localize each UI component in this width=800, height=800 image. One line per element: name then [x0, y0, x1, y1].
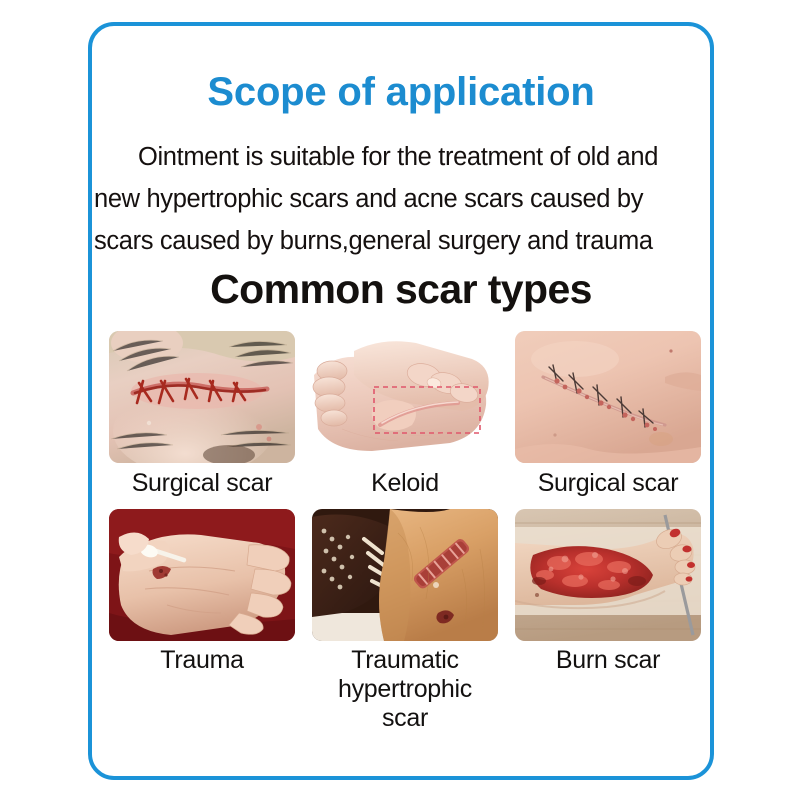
- scar-type-caption: Burn scar: [556, 646, 660, 675]
- scar-type-cell-trauma: Trauma: [109, 509, 295, 675]
- scar-type-caption: Keloid: [371, 469, 439, 498]
- description-line-2: new hypertrophic scars and acne scars ca…: [92, 178, 710, 220]
- section-heading: Common scar types: [92, 269, 710, 310]
- scar-type-cell-traumatic-hypertrophic: Traumatic hypertrophic scar: [312, 509, 498, 733]
- scar-type-grid: Surgical scar: [109, 331, 701, 733]
- scar-type-caption: Surgical scar: [132, 469, 273, 498]
- sutured-incision-photo: [515, 331, 701, 463]
- hand-keloid-photo: [312, 331, 498, 463]
- poster-canvas: Scope of application Ointment is suitabl…: [0, 0, 800, 800]
- description-paragraph: Ointment is suitable for the treatment o…: [92, 136, 710, 262]
- scar-type-cell-surgical-scar-brow: Surgical scar: [109, 331, 295, 498]
- description-line-3: scars caused by burns,general surgery an…: [92, 220, 710, 262]
- blue-rounded-frame: Scope of application Ointment is suitabl…: [88, 22, 714, 780]
- scar-type-cell-keloid: Keloid: [312, 331, 498, 498]
- sutured-brow-wound-photo: [109, 331, 295, 463]
- scar-type-caption: Traumatic hypertrophic scar: [312, 646, 498, 733]
- scar-type-cell-burn-scar: Burn scar: [515, 509, 701, 675]
- scar-type-cell-surgical-scar-incision: Surgical scar: [515, 331, 701, 498]
- leg-hypertrophic-scar-photo: [312, 509, 498, 641]
- page-title: Scope of application: [92, 72, 710, 112]
- scar-type-row-2: Trauma: [109, 509, 701, 733]
- scar-type-caption: Surgical scar: [538, 469, 679, 498]
- scar-type-caption: Trauma: [160, 646, 243, 675]
- palm-wound-swab-photo: [109, 509, 295, 641]
- description-line-1: Ointment is suitable for the treatment o…: [92, 136, 710, 178]
- scar-type-row-1: Surgical scar: [109, 331, 701, 498]
- foot-burn-photo: [515, 509, 701, 641]
